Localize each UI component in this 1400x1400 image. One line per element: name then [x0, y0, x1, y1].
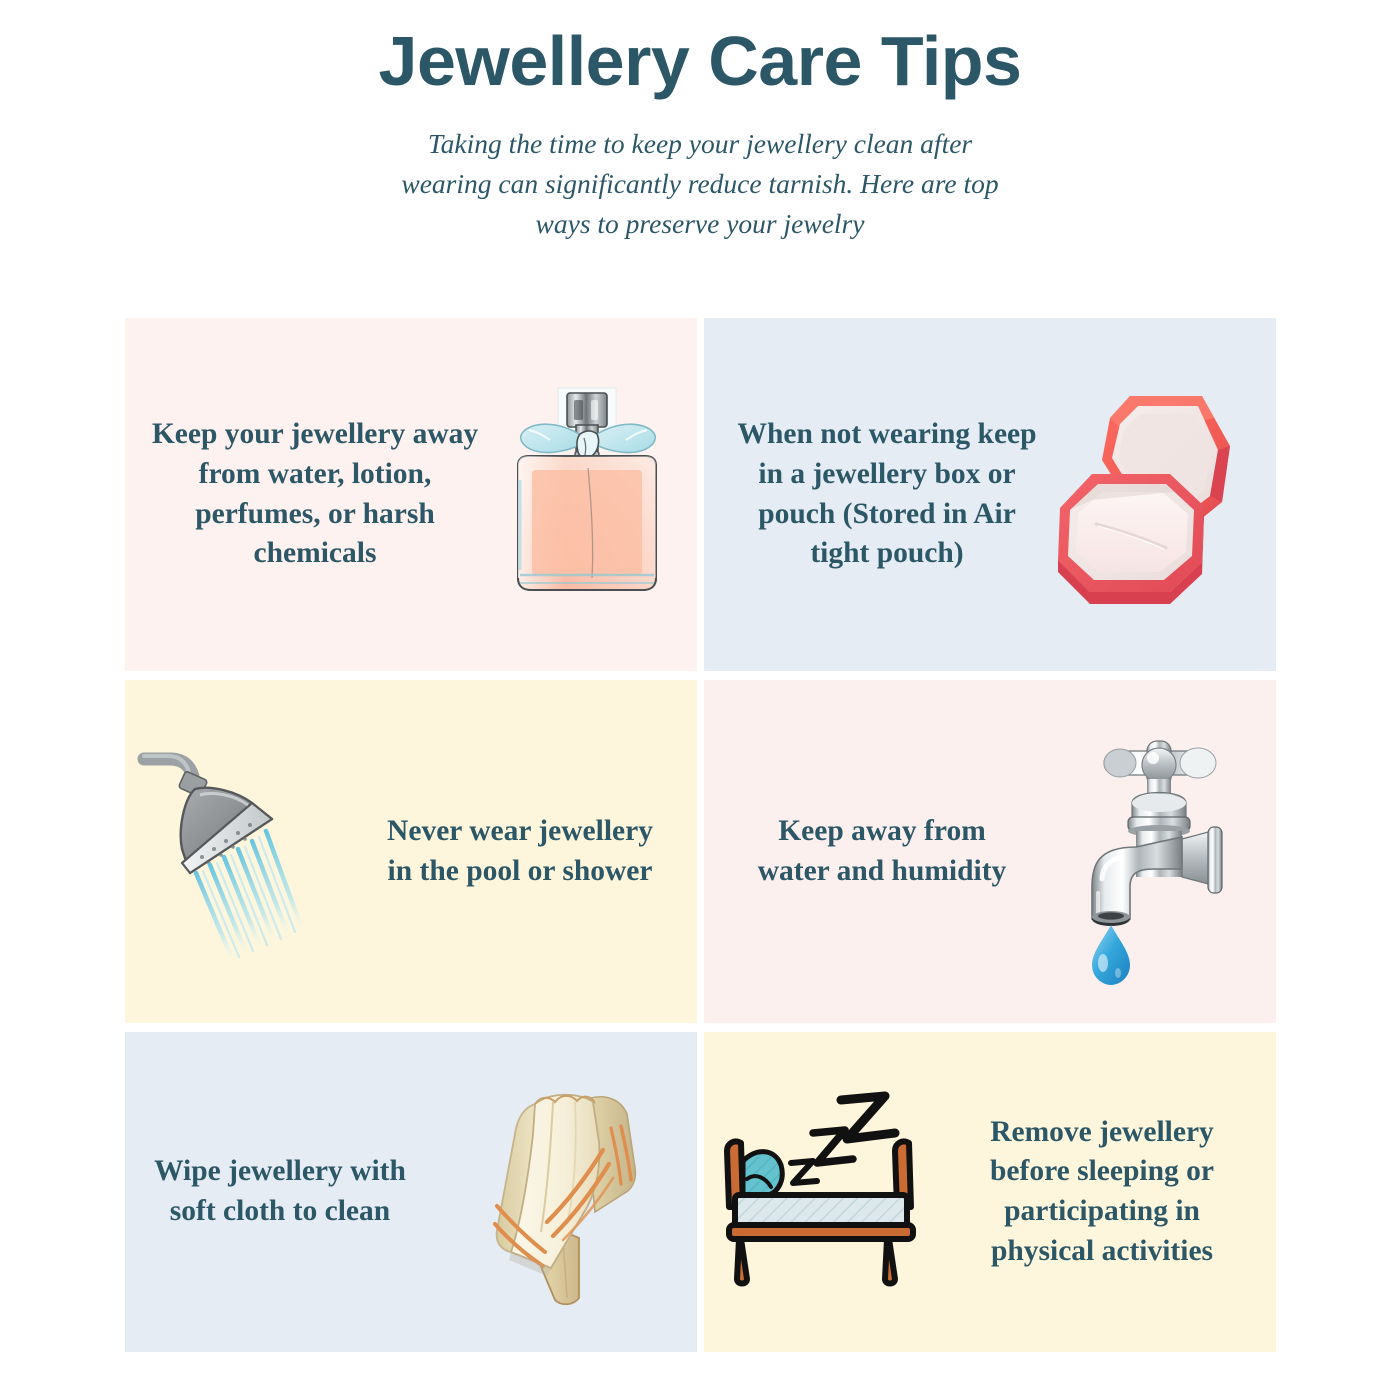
tip-card-faucet: Keep away from water and humidity: [704, 680, 1276, 1023]
tip-card-perfume: Keep your jewellery away from water, lot…: [125, 318, 697, 671]
tip-card-jewellery-box-text: When not wearing keep in a jewellery box…: [722, 415, 1052, 573]
tip-card-shower: Never wear jewellery in the pool or show…: [125, 680, 697, 1023]
tip-card-bed-text: Remove jewellery before sleeping or part…: [952, 1113, 1252, 1271]
page-title: Jewellery Care Tips: [0, 0, 1400, 96]
ring-box-icon: [1052, 318, 1276, 671]
tip-card-perfume-text: Keep your jewellery away from water, lot…: [135, 415, 495, 573]
tips-grid: Keep your jewellery away from water, lot…: [125, 318, 1276, 1355]
tip-card-faucet-text: Keep away from water and humidity: [732, 812, 1032, 891]
header: Jewellery Care Tips Taking the time to k…: [0, 0, 1400, 244]
page-subtitle: Taking the time to keep your jewellery c…: [380, 124, 1020, 244]
polishing-cloth-icon: [453, 1032, 697, 1352]
tip-card-jewellery-box: When not wearing keep in a jewellery box…: [704, 318, 1276, 671]
tip-card-cloth-text: Wipe jewellery with soft cloth to clean: [125, 1152, 435, 1231]
tip-card-shower-text: Never wear jewellery in the pool or show…: [365, 812, 675, 891]
tip-card-cloth: Wipe jewellery with soft cloth to clean: [125, 1032, 697, 1352]
faucet-drip-icon: [1032, 680, 1276, 1023]
infographic-page: Jewellery Care Tips Taking the time to k…: [0, 0, 1400, 1400]
perfume-bottle-icon: [495, 318, 697, 671]
sleeping-bed-icon: [704, 1032, 952, 1352]
shower-head-icon: [125, 680, 365, 1023]
tip-card-bed: Remove jewellery before sleeping or part…: [704, 1032, 1276, 1352]
